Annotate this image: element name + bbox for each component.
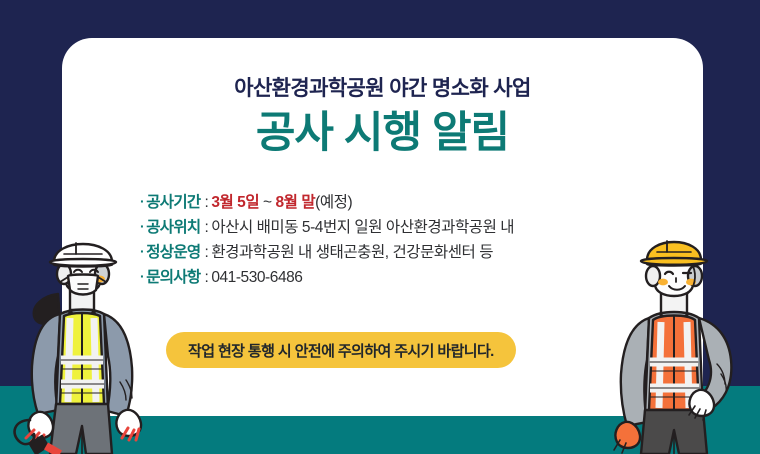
detail-separator: : [204,240,208,265]
detail-row-operations: · 정상운영 : 환경과학공원 내 생태곤충원, 건강문화센터 등 [140,240,660,265]
female-construction-worker-illustration [8,234,158,454]
period-start: 3월 5일 [211,194,259,211]
male-construction-worker-illustration [603,234,758,454]
detail-row-contact: · 문의사항 : 041-530-6486 [140,265,660,290]
detail-separator: : [204,215,208,240]
headline-block: 아산환경과학공원 야간 명소화 사업 공사 시행 알림 [62,76,703,161]
poster-title: 공사 시행 알림 [62,107,703,161]
detail-value-operations: 환경과학공원 내 생태곤충원, 건강문화센터 등 [211,240,493,265]
detail-row-period: · 공사기간 : 3월 5일 ~ 8월 말(예정) [140,190,660,215]
bullet-icon: · [140,190,144,213]
detail-value-period: 3월 5일 ~ 8월 말(예정) [211,190,352,215]
detail-label-period: 공사기간 [146,190,200,215]
period-end: 8월 말 [275,194,315,211]
poster-subtitle: 아산환경과학공원 야간 명소화 사업 [62,76,703,101]
safety-notice-text: 작업 현장 통행 시 안전에 주의하여 주시기 바랍니다. [188,340,494,361]
construction-notice-poster: 아산환경과학공원 야간 명소화 사업 공사 시행 알림 · 공사기간 : 3월 … [0,0,760,454]
detail-row-location: · 공사위치 : 아산시 배미동 5-4번지 일원 아산환경과학공원 내 [140,215,660,240]
detail-value-location: 아산시 배미동 5-4번지 일원 아산환경과학공원 내 [211,215,514,240]
period-note: (예정) [315,194,352,211]
safety-notice-pill: 작업 현장 통행 시 안전에 주의하여 주시기 바랍니다. [166,332,516,368]
detail-separator: : [204,190,208,215]
period-tilde: ~ [259,194,275,211]
detail-value-contact: 041-530-6486 [211,265,302,290]
detail-list: · 공사기간 : 3월 5일 ~ 8월 말(예정) · 공사위치 : 아산시 배… [140,190,660,290]
detail-separator: : [204,265,208,290]
